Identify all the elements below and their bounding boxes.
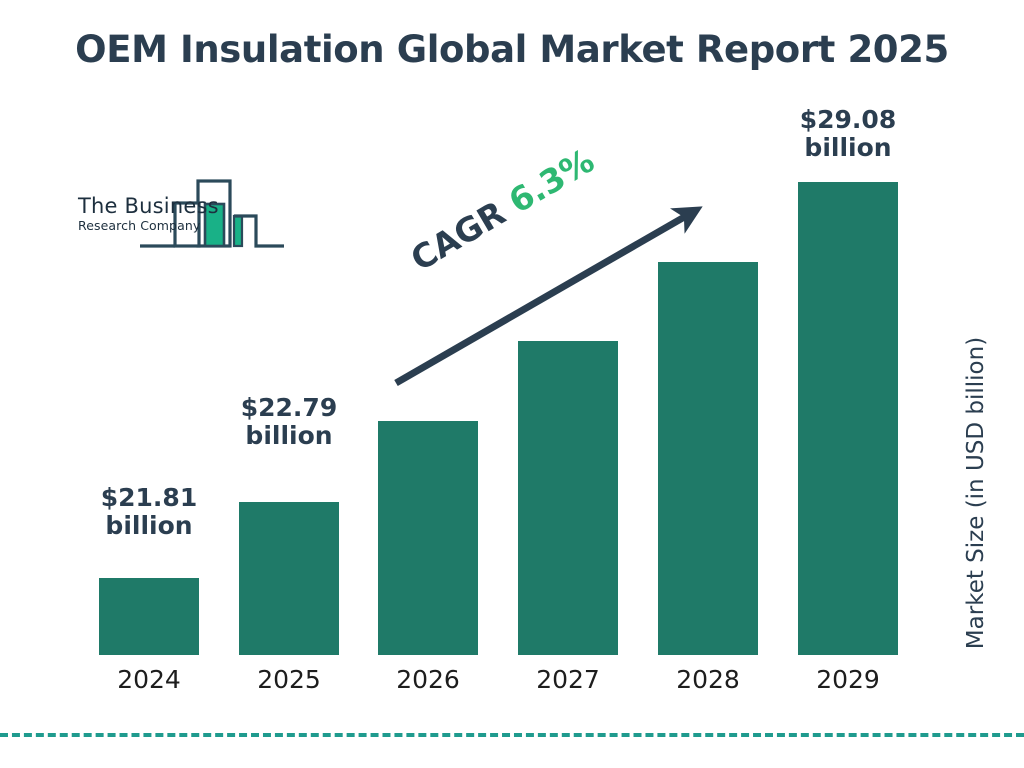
logo-wordmark: The Business Research Company — [78, 196, 210, 233]
cagr-value: 6.3% — [502, 141, 601, 221]
bar-value-unit-2024: billion — [49, 512, 249, 540]
bar-value-label-2024: $21.81 billion — [49, 484, 249, 540]
logo-line-one: The Business — [78, 196, 210, 217]
x-axis-label-2027: 2027 — [518, 665, 618, 694]
cagr-annotation: CAGR 6.3% — [404, 141, 601, 279]
footer-divider — [0, 733, 1024, 737]
bar-2025 — [239, 502, 339, 655]
bar-value-amount-2029: $29.08 — [748, 106, 948, 134]
bar-chart-plot-area: $21.81 billion $22.79 billion $29.08 bil… — [0, 0, 1024, 768]
bar-value-amount-2024: $21.81 — [49, 484, 249, 512]
bar-2027 — [518, 341, 618, 655]
x-axis-label-2024: 2024 — [99, 665, 199, 694]
x-axis-label-2026: 2026 — [378, 665, 478, 694]
x-axis-label-2029: 2029 — [798, 665, 898, 694]
bar-2028 — [658, 262, 758, 655]
bar-value-label-2029: $29.08 billion — [748, 106, 948, 162]
bar-2029 — [798, 182, 898, 655]
cagr-word: CAGR — [404, 193, 512, 279]
bar-value-unit-2025: billion — [189, 422, 389, 450]
bar-value-label-2025: $22.79 billion — [189, 394, 389, 450]
bar-2026 — [378, 421, 478, 655]
x-axis-label-2028: 2028 — [658, 665, 758, 694]
logo-line-two: Research Company — [78, 220, 210, 233]
bar-value-amount-2025: $22.79 — [189, 394, 389, 422]
bar-2024 — [99, 578, 199, 655]
x-axis-label-2025: 2025 — [239, 665, 339, 694]
bar-value-unit-2029: billion — [748, 134, 948, 162]
y-axis-title: Market Size (in USD billion) — [963, 323, 989, 663]
